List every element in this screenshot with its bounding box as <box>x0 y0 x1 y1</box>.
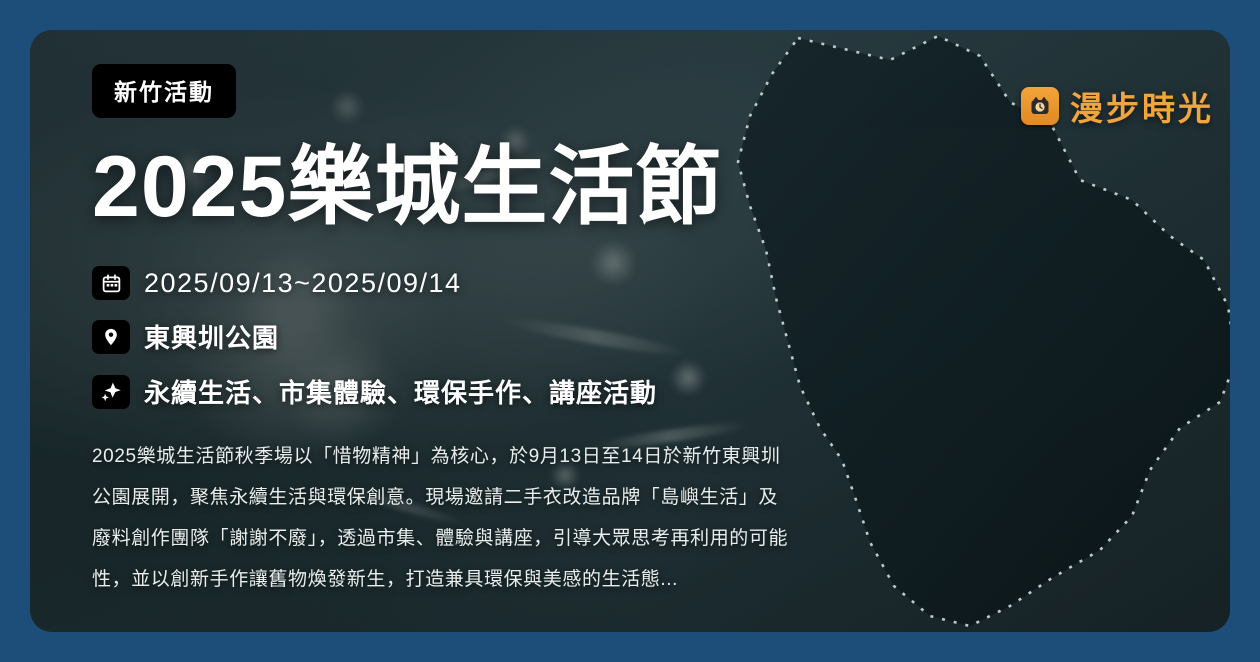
event-title: 2025樂城生活節 <box>92 142 1190 232</box>
meta-row-location: 東興圳公園 <box>92 318 1190 355</box>
category-tag[interactable]: 新竹活動 <box>92 64 236 118</box>
event-card: 漫步時光 新竹活動 2025樂城生活節 2025/09/13 <box>30 30 1230 632</box>
event-date: 2025/09/13~2025/09/14 <box>144 268 462 299</box>
sparkle-star-icon <box>92 375 130 409</box>
event-description: 2025樂城生活節秋季場以「惜物精神」為核心，於9月13日至14日於新竹東興圳公… <box>92 436 792 600</box>
meta-row-topics: 永續生活、市集體驗、環保手作、講座活動 <box>92 373 1190 410</box>
location-pin-icon <box>92 320 130 354</box>
meta-row-date: 2025/09/13~2025/09/14 <box>92 266 1190 300</box>
event-topics: 永續生活、市集體驗、環保手作、講座活動 <box>144 373 657 410</box>
card-content: 新竹活動 2025樂城生活節 2025/09/13~2025/09/14 <box>30 30 1230 632</box>
event-location: 東興圳公園 <box>144 318 279 355</box>
event-meta: 2025/09/13~2025/09/14 東興圳公園 <box>92 266 1190 410</box>
calendar-icon <box>92 266 130 300</box>
